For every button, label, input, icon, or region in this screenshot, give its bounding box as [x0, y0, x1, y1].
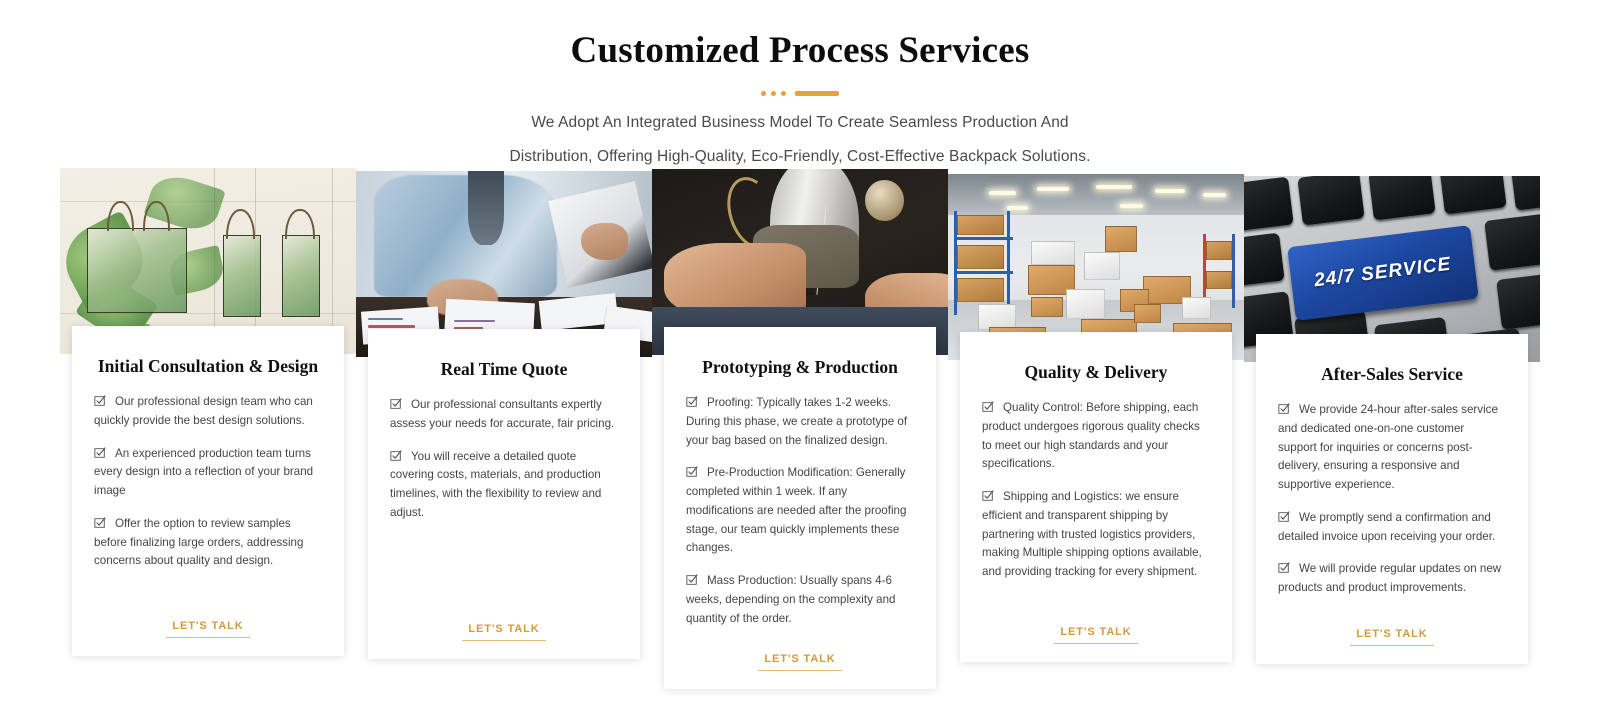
checkbox-checked-icon — [94, 395, 106, 407]
feature-item: We will provide regular updates on new p… — [1278, 560, 1506, 598]
service-cards-row: Initial Consultation & Design Our profes… — [0, 168, 1600, 689]
cta-wrapper: LET'S TALK — [1278, 618, 1506, 646]
section-subtitle: We Adopt An Integrated Business Model To… — [0, 113, 1600, 169]
card-body: Prototyping & Production Proofing: Typic… — [664, 327, 936, 689]
card-title: Initial Consultation & Design — [94, 356, 322, 377]
feature-item: Our professional design team who can qui… — [94, 393, 322, 431]
feature-list: Our professional design team who can qui… — [94, 393, 322, 610]
checkbox-checked-icon — [686, 466, 698, 478]
card-body: Initial Consultation & Design Our profes… — [72, 326, 344, 656]
checkbox-checked-icon — [1278, 403, 1290, 415]
lets-talk-button[interactable]: LET'S TALK — [462, 623, 545, 641]
card-body: Quality & Delivery Quality Control: Befo… — [960, 332, 1232, 662]
divider-bar-icon — [795, 91, 839, 96]
page-title: Customized Process Services — [0, 30, 1600, 73]
feature-text: Pre-Production Modification: Generally c… — [686, 466, 906, 554]
service-card: Prototyping & Production Proofing: Typic… — [652, 169, 948, 689]
feature-list: We provide 24-hour after-sales service a… — [1278, 401, 1506, 618]
subtitle-line-1: We Adopt An Integrated Business Model To… — [0, 113, 1600, 134]
feature-text: Our professional design team who can qui… — [94, 395, 313, 427]
feature-text: You will receive a detailed quote coveri… — [390, 450, 601, 519]
feature-item: Quality Control: Before shipping, each p… — [982, 399, 1210, 474]
feature-item: Our professional consultants expertly as… — [390, 396, 618, 434]
feature-text: Shipping and Logistics: we ensure effici… — [982, 490, 1202, 578]
checkbox-checked-icon — [982, 490, 994, 502]
checkbox-checked-icon — [686, 574, 698, 586]
feature-text: Proofing: Typically takes 1-2 weeks. Dur… — [686, 396, 907, 447]
service-card: Real Time Quote Our professional consult… — [356, 171, 652, 659]
lets-talk-button[interactable]: LET'S TALK — [1350, 628, 1433, 646]
feature-item: Offer the option to review samples befor… — [94, 515, 322, 571]
checkbox-checked-icon — [94, 447, 106, 459]
feature-item: Proofing: Typically takes 1-2 weeks. Dur… — [686, 394, 914, 450]
service-card: Initial Consultation & Design Our profes… — [60, 168, 356, 656]
decorative-divider — [0, 89, 1600, 99]
checkbox-checked-icon — [94, 517, 106, 529]
feature-list: Quality Control: Before shipping, each p… — [982, 399, 1210, 616]
feature-list: Proofing: Typically takes 1-2 weeks. Dur… — [686, 394, 914, 643]
feature-text: We promptly send a confirmation and deta… — [1278, 511, 1495, 543]
card-title: Prototyping & Production — [686, 357, 914, 378]
cta-wrapper: LET'S TALK — [94, 610, 322, 638]
service-card: 24/7 SERVICE After-Sales Service We prov… — [1244, 176, 1540, 664]
card-body: Real Time Quote Our professional consult… — [368, 329, 640, 659]
divider-dot-icon — [761, 91, 766, 96]
feature-text: Our professional consultants expertly as… — [390, 398, 614, 430]
feature-text: We provide 24-hour after-sales service a… — [1278, 403, 1498, 491]
checkbox-checked-icon — [390, 450, 402, 462]
cta-wrapper: LET'S TALK — [982, 616, 1210, 644]
feature-item: An experienced production team turns eve… — [94, 445, 322, 501]
feature-item: Shipping and Logistics: we ensure effici… — [982, 488, 1210, 582]
feature-item: Mass Production: Usually spans 4-6 weeks… — [686, 572, 914, 628]
lets-talk-button[interactable]: LET'S TALK — [1054, 626, 1137, 644]
process-services-section: Customized Process Services We Adopt An … — [0, 0, 1600, 709]
feature-item: We promptly send a confirmation and deta… — [1278, 509, 1506, 547]
card-body: After-Sales Service We provide 24-hour a… — [1256, 334, 1528, 664]
subtitle-line-2: Distribution, Offering High-Quality, Eco… — [0, 147, 1600, 168]
feature-item: Pre-Production Modification: Generally c… — [686, 464, 914, 558]
cta-wrapper: LET'S TALK — [686, 643, 914, 671]
feature-text: Mass Production: Usually spans 4-6 weeks… — [686, 574, 895, 625]
feature-text: Quality Control: Before shipping, each p… — [982, 401, 1200, 470]
checkbox-checked-icon — [1278, 562, 1290, 574]
card-title: After-Sales Service — [1278, 364, 1506, 385]
lets-talk-button[interactable]: LET'S TALK — [758, 653, 841, 671]
checkbox-checked-icon — [686, 396, 698, 408]
card-title: Real Time Quote — [390, 359, 618, 380]
feature-item: We provide 24-hour after-sales service a… — [1278, 401, 1506, 495]
divider-dot-icon — [771, 91, 776, 96]
feature-list: Our professional consultants expertly as… — [390, 396, 618, 613]
feature-text: An experienced production team turns eve… — [94, 447, 313, 498]
divider-dot-icon — [781, 91, 786, 96]
lets-talk-button[interactable]: LET'S TALK — [166, 620, 249, 638]
service-card: Quality & Delivery Quality Control: Befo… — [948, 174, 1244, 662]
cta-wrapper: LET'S TALK — [390, 613, 618, 641]
card-title: Quality & Delivery — [982, 362, 1210, 383]
feature-text: Offer the option to review samples befor… — [94, 517, 303, 568]
checkbox-checked-icon — [1278, 511, 1290, 523]
feature-text: We will provide regular updates on new p… — [1278, 562, 1501, 594]
checkbox-checked-icon — [390, 398, 402, 410]
checkbox-checked-icon — [982, 401, 994, 413]
key-label: 24/7 SERVICE — [1313, 253, 1452, 292]
feature-item: You will receive a detailed quote coveri… — [390, 448, 618, 523]
section-header: Customized Process Services We Adopt An … — [0, 0, 1600, 168]
